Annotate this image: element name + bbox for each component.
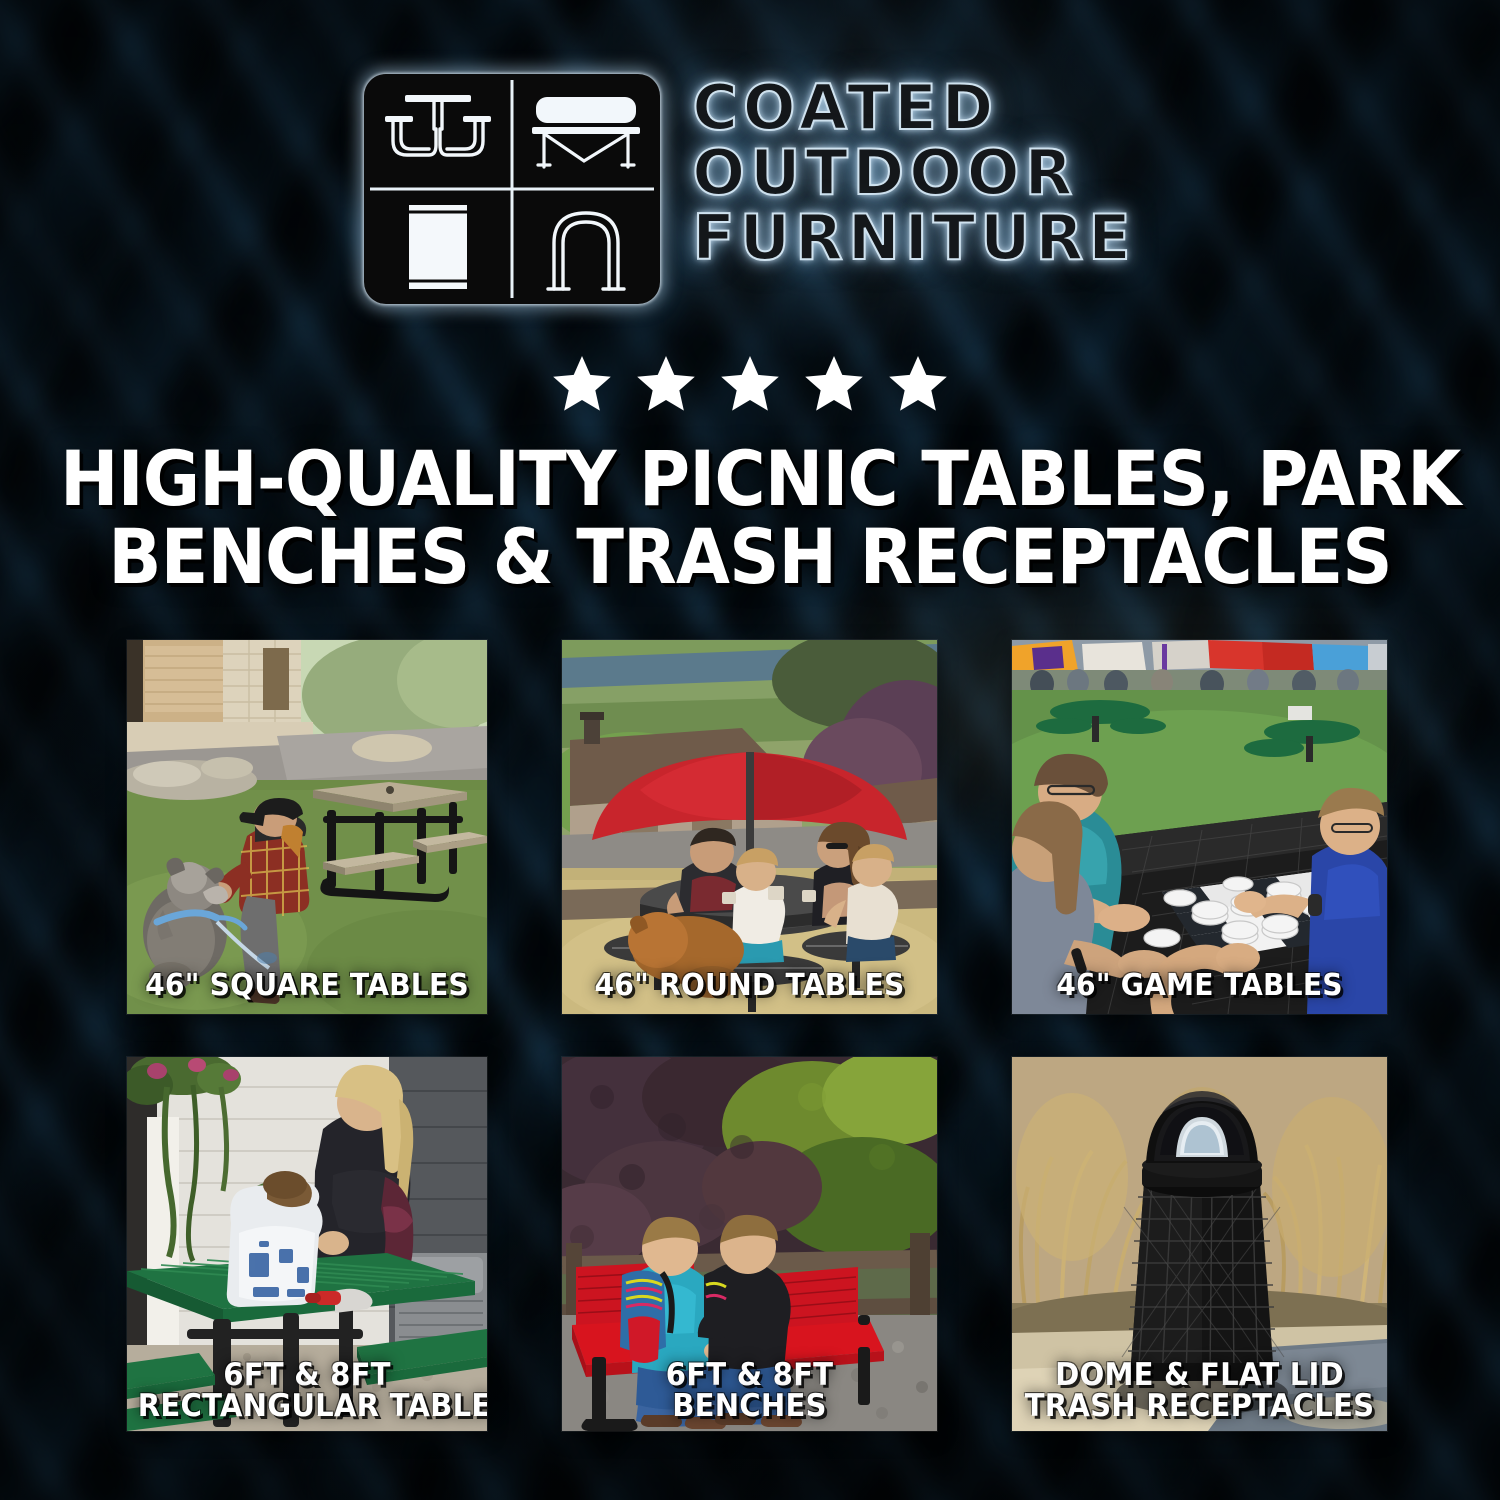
- caption-line: DOME & FLAT LID: [1023, 1360, 1376, 1392]
- bike-rack-arch-icon: [512, 189, 660, 304]
- star-rating: [0, 352, 1500, 416]
- product-tile-benches[interactable]: 6FT & 8FT BENCHES: [562, 1057, 937, 1431]
- product-tile-square-tables[interactable]: 46" SQUARE TABLES: [127, 640, 487, 1014]
- soil-bag: [227, 1171, 323, 1307]
- brand-wordmark-line-2: OUTDOOR: [692, 141, 1135, 204]
- trash-receptacle-icon: [364, 189, 512, 304]
- brand-wordmark: COATED OUTDOOR FURNITURE: [692, 74, 1135, 270]
- caption-line: BENCHES: [573, 1391, 926, 1423]
- product-tile-game-tables[interactable]: 46" GAME TABLES: [1012, 640, 1387, 1014]
- product-caption-benches: 6FT & 8FT BENCHES: [573, 1360, 926, 1423]
- headline-line-2: BENCHES & TRASH RECEPTACLES: [60, 518, 1440, 596]
- product-tile-trash-receptacles[interactable]: DOME & FLAT LID TRASH RECEPTACLES: [1012, 1057, 1387, 1431]
- brand-wordmark-line-1: COATED: [692, 76, 1135, 139]
- caption-line: TRASH RECEPTACLES: [1023, 1391, 1376, 1423]
- star-icon: [549, 352, 615, 416]
- caption-line: 6FT & 8FT: [573, 1360, 926, 1392]
- brand-wordmark-line-3: FURNITURE: [692, 206, 1135, 269]
- product-grid: 46" SQUARE TABLES: [127, 640, 1373, 1431]
- bench-side-icon: [512, 74, 660, 189]
- caption-line: RECTANGULAR TABLES: [138, 1391, 476, 1423]
- star-icon: [717, 352, 783, 416]
- caption-line: 46" GAME TABLES: [1023, 971, 1376, 1002]
- backpack-2: [704, 1270, 730, 1339]
- product-caption-trash-receptacles: DOME & FLAT LID TRASH RECEPTACLES: [1023, 1360, 1376, 1423]
- product-caption-rectangular-tables: 6FT & 8FT RECTANGULAR TABLES: [138, 1360, 476, 1423]
- round-table-photo: [562, 640, 937, 1014]
- headline-line-1: HIGH-QUALITY PICNIC TABLES, PARK: [60, 440, 1440, 518]
- brand-logo: COATED OUTDOOR FURNITURE: [0, 74, 1500, 304]
- star-icon: [801, 352, 867, 416]
- star-icon: [633, 352, 699, 416]
- product-tile-round-tables[interactable]: 46" ROUND TABLES: [562, 640, 937, 1014]
- picnic-table-front-icon: [364, 74, 512, 189]
- square-table-photo: [127, 640, 487, 1014]
- product-caption-round-tables: 46" ROUND TABLES: [573, 971, 926, 1002]
- game-table-photo: [1012, 640, 1387, 1014]
- page-title: HIGH-QUALITY PICNIC TABLES, PARK BENCHES…: [60, 440, 1440, 595]
- product-caption-square-tables: 46" SQUARE TABLES: [138, 971, 476, 1002]
- star-icon: [885, 352, 951, 416]
- caption-line: 6FT & 8FT: [138, 1360, 476, 1392]
- product-tile-rectangular-tables[interactable]: 6FT & 8FT RECTANGULAR TABLES: [127, 1057, 487, 1431]
- product-caption-game-tables: 46" GAME TABLES: [1023, 971, 1376, 1002]
- caption-line: 46" ROUND TABLES: [573, 971, 926, 1002]
- caption-line: 46" SQUARE TABLES: [138, 971, 476, 1002]
- promotional-banner: COATED OUTDOOR FURNITURE HIGH-QUALITY PI…: [0, 0, 1500, 1500]
- logo-icon-grid: [364, 74, 660, 304]
